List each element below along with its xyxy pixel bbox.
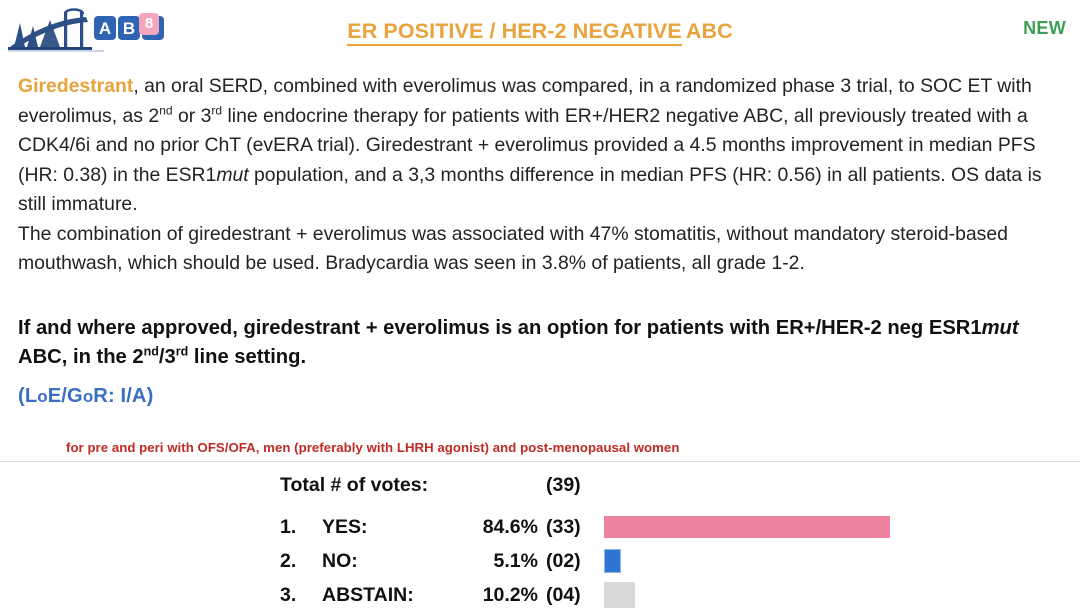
recommendation-b: ABC, in the 2 [18,346,144,368]
vote-row-abstain: 3. ABSTAIN: 10.2% (04) [0,578,1080,612]
recommendation-d: line setting. [188,346,306,368]
mut-italic: mut [216,164,248,186]
vote-row-yes: 1. YES: 84.6% (33) [0,510,1080,544]
page-title-main: ER POSITIVE / HER-2 NEGATIVE [347,19,682,46]
loe-o1: o [37,387,47,406]
section-divider [0,461,1080,462]
vote-rank-2: 2. [280,550,314,573]
vote-results: Total # of votes: (39) 1. YES: 84.6% (33… [0,468,1080,614]
drug-name: Giredestrant [18,75,133,97]
vote-pct-abstain: 10.2% [420,584,538,607]
recommendation-a: If and where approved, giredestrant + ev… [18,317,982,339]
vote-bar-yes [604,516,890,538]
page-title-tail: ABC [682,19,733,43]
slide-header: A B C 8 ER POSITIVE / HER-2 NEGATIVEABC … [0,0,1080,62]
vote-count-yes: (33) [546,516,606,539]
loe-close: R: I/A) [93,385,153,407]
loe-open: (L [18,385,37,407]
recommendation-superscript-nd: nd [144,344,159,358]
vote-rank-1: 1. [280,516,314,539]
vote-total-label: Total # of votes: [280,474,540,497]
summary-text: Giredestrant, an oral SERD, combined wit… [18,72,1064,279]
vote-total-count: (39) [546,474,606,497]
vote-count-abstain: (04) [546,584,606,607]
superscript-nd: nd [159,103,172,117]
summary-p1-b: or 3 [173,105,212,127]
recommendation-mut-italic: mut [982,317,1019,339]
recommendation-c: /3 [159,346,176,368]
new-badge: NEW [1023,18,1066,39]
vote-bar-cell-abstain [604,578,635,612]
loe-o2: o [83,387,93,406]
superscript-rd: rd [211,103,222,117]
vote-pct-no: 5.1% [420,550,538,573]
vote-bar-abstain [604,582,635,608]
vote-rank-3: 3. [280,584,314,607]
vote-count-no: (02) [546,550,606,573]
recommendation-superscript-rd: rd [176,344,189,358]
vote-bar-cell-no [604,544,621,578]
vote-pct-yes: 84.6% [420,516,538,539]
vote-bar-no [604,549,621,573]
vote-total-row: Total # of votes: (39) [0,468,1080,502]
page-title: ER POSITIVE / HER-2 NEGATIVEABC [0,19,1080,44]
footnote-text: for pre and peri with OFS/OFA, men (pref… [66,440,679,455]
summary-paragraph-1: Giredestrant, an oral SERD, combined wit… [18,72,1064,220]
loe-mid: E/G [48,385,83,407]
vote-row-no: 2. NO: 5.1% (02) [0,544,1080,578]
loe-gor-badge: (LoE/GoR: I/A) [18,385,153,408]
summary-paragraph-2: The combination of giredestrant + everol… [18,220,1064,279]
vote-bar-cell-yes [604,510,890,544]
slide-root: A B C 8 ER POSITIVE / HER-2 NEGATIVEABC … [0,0,1080,614]
recommendation-statement: If and where approved, giredestrant + ev… [18,314,1064,372]
